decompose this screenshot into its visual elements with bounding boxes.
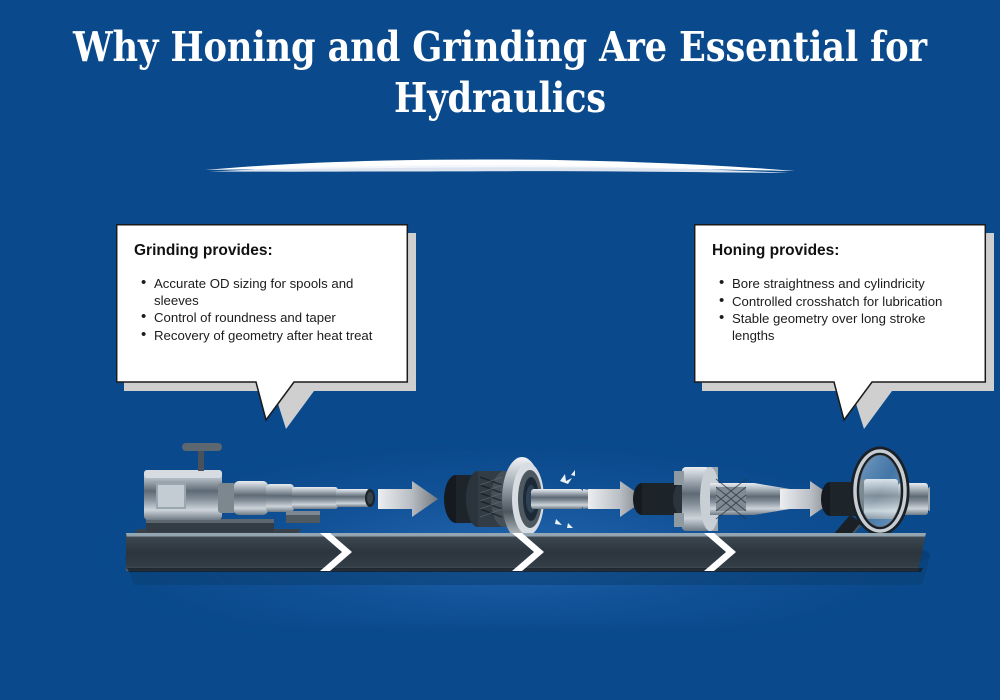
callout-honing-list: Bore straightness and cylindricity Contr…: [712, 276, 970, 344]
list-item: Control of roundness and taper: [154, 310, 392, 327]
callout-grinding-title: Grinding provides:: [134, 242, 392, 260]
callout-honing-title: Honing provides:: [712, 242, 970, 260]
list-item: Controlled crosshatch for lubrication: [732, 294, 970, 311]
infographic-canvas: Why Honing and Grinding Are Essential fo…: [0, 0, 1000, 700]
callout-honing: Honing provides: Bore straightness and c…: [694, 224, 986, 382]
callout-grinding: Grinding provides: Accurate OD sizing fo…: [116, 224, 408, 382]
page-title-text: Why Honing and Grinding Are Essential fo…: [70, 22, 930, 124]
title-divider-swoosh: [203, 158, 797, 180]
process-graphic: [90, 425, 930, 625]
grinding-wheel-icon: [444, 457, 610, 541]
process-illustration: TURNING GRINDING HONING INSPECTING: [90, 425, 930, 625]
callout-grinding-list: Accurate OD sizing for spools and sleeve…: [134, 276, 392, 344]
list-item: Accurate OD sizing for spools and sleeve…: [154, 276, 392, 309]
list-item: Stable geometry over long stroke lengths: [732, 311, 970, 344]
page-title: Why Honing and Grinding Are Essential fo…: [0, 22, 1000, 124]
callout-grinding-content: Grinding provides: Accurate OD sizing fo…: [116, 224, 408, 382]
process-bar: [126, 533, 926, 572]
callout-honing-content: Honing provides: Bore straightness and c…: [694, 224, 986, 382]
arrow-right-icon: [378, 481, 438, 517]
list-item: Recovery of geometry after heat treat: [154, 328, 392, 345]
list-item: Bore straightness and cylindricity: [732, 276, 970, 293]
